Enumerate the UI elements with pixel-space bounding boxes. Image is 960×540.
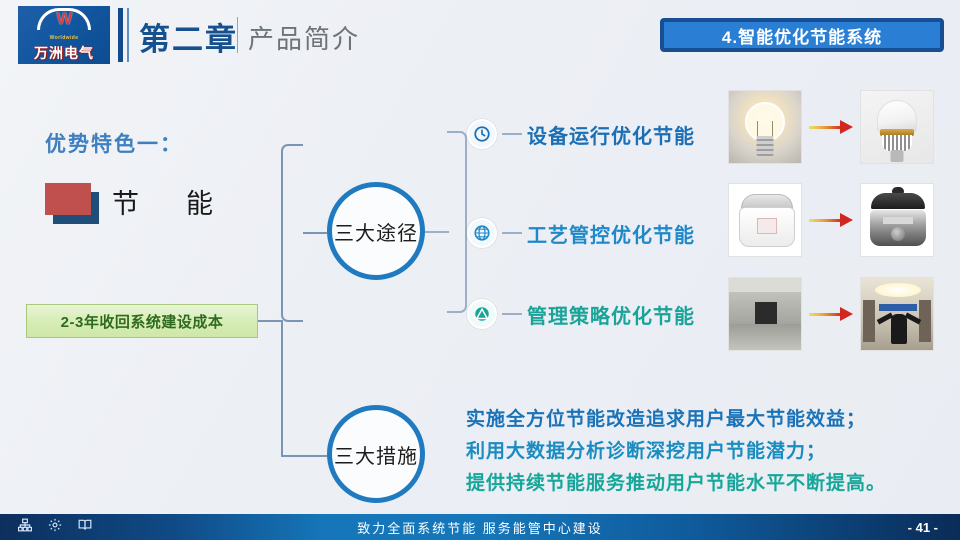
logo-emblem-icon: W: [37, 8, 91, 34]
node-three-measures[interactable]: 三大措施: [327, 405, 425, 503]
pressure-cooker-image: [860, 183, 934, 257]
measures-text-block: 实施全方位节能改造追求用户最大节能效益； 利用大数据分析诊断深挖用户节能潜力； …: [466, 404, 886, 500]
red-square-marker: [45, 183, 91, 215]
logo-letter: W: [37, 9, 91, 29]
chapter-separator: [237, 17, 238, 53]
connector-to-measures-circle: [281, 455, 327, 457]
keyword-energy-saving: 节 能: [112, 182, 215, 221]
led-bulb-image: [860, 90, 934, 164]
advantage-title: 优势特色一：: [45, 128, 183, 158]
right-bracket-connector: [447, 131, 467, 313]
ways-right-stub: [425, 231, 449, 233]
path-dash-3: [502, 313, 522, 315]
triangle-alert-icon: [467, 299, 497, 329]
cost-recovery-label: 2-3年收回系统建设成本: [61, 311, 224, 332]
right-arrow-icon-3: [809, 305, 853, 323]
lit-corridor-image: [860, 277, 934, 351]
path-dash-1: [502, 133, 522, 135]
page-number: - 41 -: [908, 520, 938, 535]
footer-bar: 致力全面系统节能 服务能管中心建设 - 41 -: [0, 514, 960, 540]
globe-network-icon: [467, 218, 497, 248]
company-logo: W Worldwide 万洲电气: [18, 6, 110, 64]
dark-corridor-image: [728, 277, 802, 351]
picture-pair-bulb: [728, 90, 934, 164]
measure-line-1: 实施全方位节能改造追求用户最大节能效益；: [466, 404, 886, 436]
path-item-2[interactable]: 工艺管控优化节能: [467, 218, 695, 248]
picture-pair-cooker: [728, 183, 934, 257]
rice-cooker-image: [728, 183, 802, 257]
measure-line-3: 提供持续节能服务推动用户节能水平不断提高。: [466, 468, 886, 500]
path-item-1[interactable]: 设备运行优化节能: [467, 119, 695, 149]
section-banner: 4.智能优化节能系统: [660, 18, 944, 52]
logo-tagline: Worldwide: [50, 35, 79, 41]
path-item-3[interactable]: 管理策略优化节能: [467, 299, 695, 329]
incandescent-bulb-image: [728, 90, 802, 164]
slide-canvas: W Worldwide 万洲电气 第二章 产品简介 4.智能优化节能系统 优势特…: [0, 0, 960, 540]
path-label-1: 设备运行优化节能: [527, 120, 695, 149]
connector-to-ways-circle: [303, 232, 327, 234]
path-label-2: 工艺管控优化节能: [527, 219, 695, 248]
path-dash-2: [502, 232, 522, 234]
node-three-ways[interactable]: 三大途径: [327, 182, 425, 280]
measure-line-2: 利用大数据分析诊断深挖用户节能潜力；: [466, 436, 886, 468]
chapter-title: 第二章: [139, 14, 238, 59]
keyword-char-1: 节: [112, 189, 141, 219]
left-bracket-connector: [281, 144, 303, 322]
path-label-3: 管理策略优化节能: [527, 300, 695, 329]
section-banner-label: 4.智能优化节能系统: [722, 23, 882, 48]
header-divider-thick: [118, 8, 123, 62]
connector-vertical-to-measures: [281, 322, 283, 457]
cost-recovery-callout: 2-3年收回系统建设成本: [26, 304, 258, 338]
right-arrow-icon-1: [809, 118, 853, 136]
logo-company-name: 万洲电气: [34, 43, 94, 63]
subject-title: 产品简介: [248, 19, 360, 56]
picture-pair-corridor: [728, 277, 934, 351]
node-three-measures-label: 三大措施: [334, 440, 418, 469]
left-bracket-stub: [258, 320, 283, 322]
node-three-ways-label: 三大途径: [334, 217, 418, 246]
clock-gauge-icon: [467, 119, 497, 149]
footer-slogan: 致力全面系统节能 服务能管中心建设: [0, 518, 960, 537]
keyword-char-2: 能: [186, 189, 215, 219]
right-arrow-icon-2: [809, 211, 853, 229]
header-divider-thin: [127, 8, 129, 62]
